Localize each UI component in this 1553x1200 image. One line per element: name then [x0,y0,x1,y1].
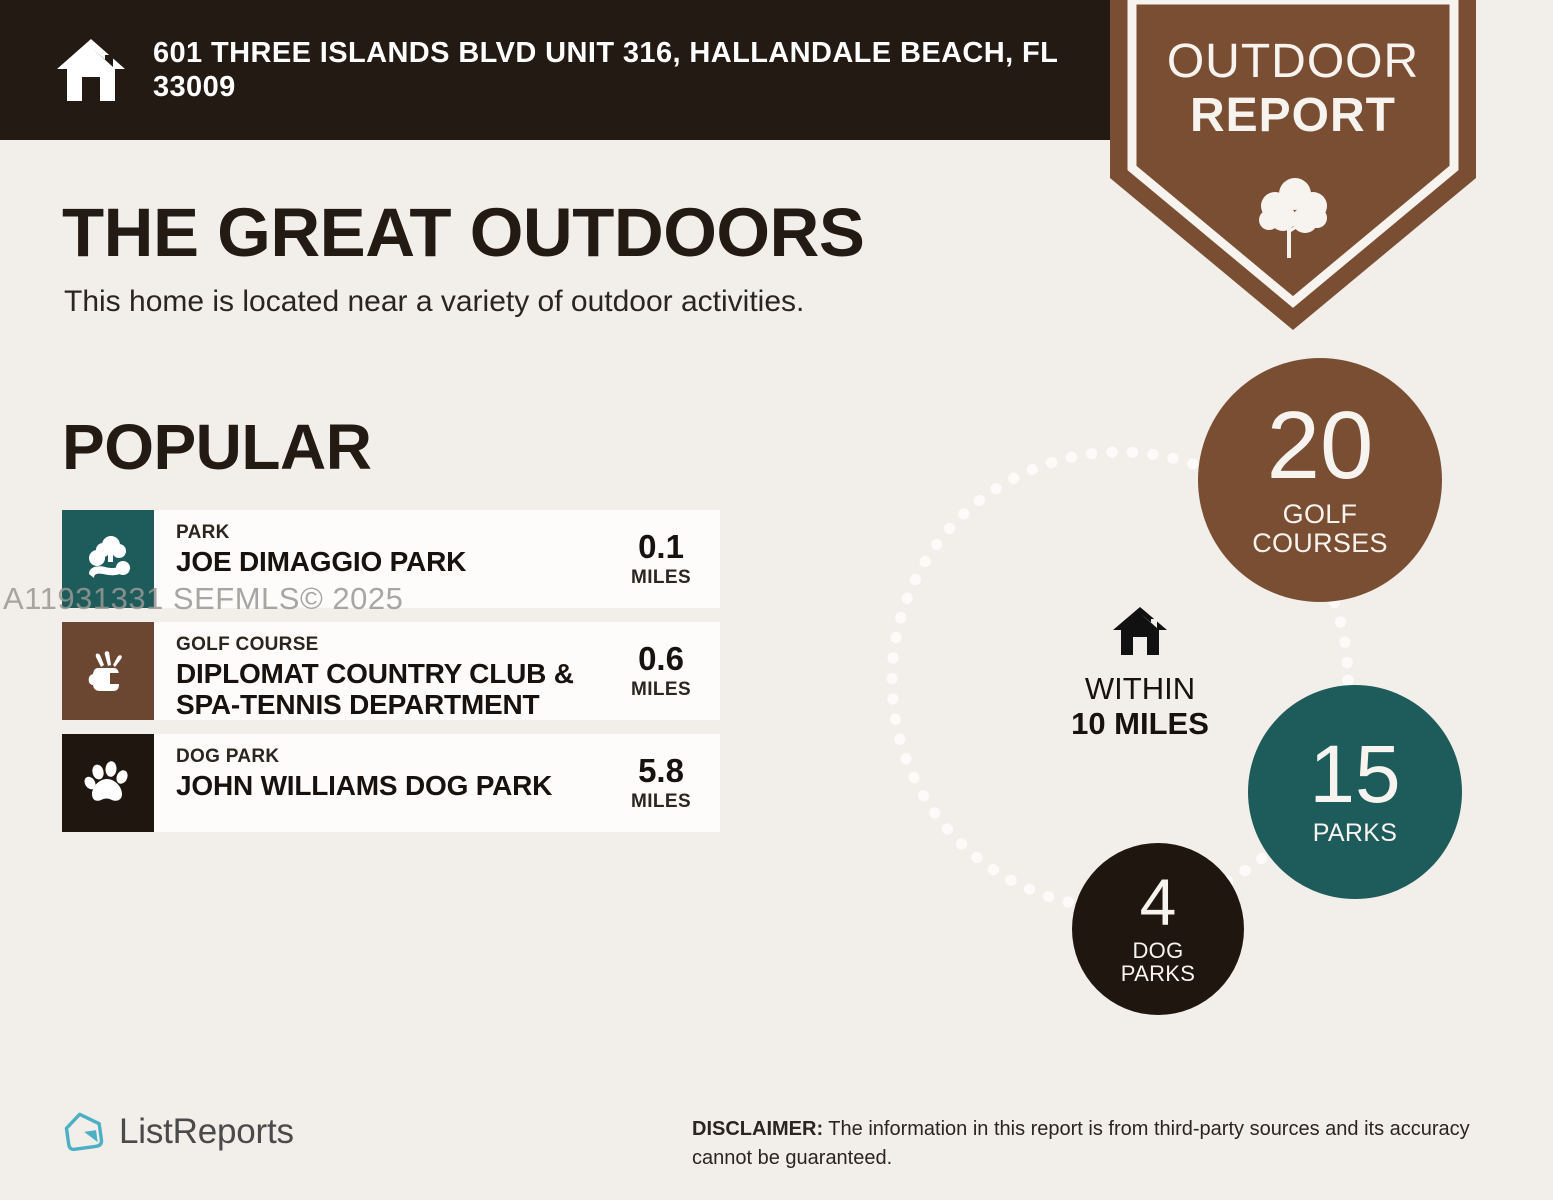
disclaimer: DISCLAIMER: The information in this repo… [692,1115,1492,1173]
poi-body: GOLF COURSE DIPLOMAT COUNTRY CLUB & SPA-… [154,622,616,720]
poi-name: DIPLOMAT COUNTRY CLUB & SPA-TENNIS DEPAR… [176,658,616,720]
stat-label-line1: GOLF [1252,500,1388,529]
stat-label-line1: PARKS [1313,820,1397,847]
poi-icon-tile [62,622,154,720]
badge-text: OUTDOOR REPORT [1110,38,1476,140]
poi-icon-tile [62,734,154,832]
outdoor-report-badge: OUTDOOR REPORT [1110,0,1476,330]
listreports-house-icon [62,1110,106,1154]
park-trees-icon [83,534,133,584]
home-icon [1111,605,1169,657]
list-item[interactable]: GOLF COURSE DIPLOMAT COUNTRY CLUB & SPA-… [62,622,720,720]
list-item[interactable]: DOG PARK JOHN WILLIAMS DOG PARK 5.8 MILE… [62,734,720,832]
stat-circle-parks[interactable]: 15 PARKS [1248,685,1462,899]
header-bar: 601 THREE ISLANDS BLVD UNIT 316, HALLAND… [0,0,1110,140]
within-10-miles-infographic: WITHIN 10 MILES 20 GOLF COURSES 15 PARKS… [820,355,1520,1045]
stat-value: 15 [1309,737,1400,812]
listreports-logo[interactable]: ListReports [62,1110,294,1154]
home-icon [55,37,127,103]
center-within-label: WITHIN [1050,673,1230,706]
poi-category: DOG PARK [176,747,616,768]
poi-name: JOE DIMAGGIO PARK [176,546,616,577]
center-miles-label: 10 MILES [1050,706,1230,742]
page-subtitle: This home is located near a variety of o… [64,285,804,319]
popular-list: PARK JOE DIMAGGIO PARK 0.1 MILES GOLF CO… [62,510,720,846]
poi-distance-unit: MILES [631,567,691,589]
poi-body: PARK JOE DIMAGGIO PARK [154,510,616,608]
poi-icon-tile [62,510,154,608]
poi-distance-value: 0.1 [638,530,684,563]
poi-body: DOG PARK JOHN WILLIAMS DOG PARK [154,734,616,832]
stat-label: PARKS [1313,820,1397,847]
poi-distance: 5.8 MILES [616,734,720,832]
stat-label: GOLF COURSES [1252,500,1388,558]
stat-label-line2: PARKS [1121,962,1195,986]
stat-circle-golf-courses[interactable]: 20 GOLF COURSES [1198,358,1442,602]
poi-name: JOHN WILLIAMS DOG PARK [176,770,616,801]
golf-bag-icon [83,646,133,696]
stat-value: 4 [1140,872,1177,933]
stat-value: 20 [1267,402,1374,490]
disclaimer-label: DISCLAIMER: [692,1118,823,1140]
poi-category: PARK [176,523,616,544]
page-title: THE GREAT OUTDOORS [62,193,864,272]
badge-line-outdoor: OUTDOOR [1110,38,1476,86]
poi-distance-unit: MILES [631,791,691,813]
poi-distance: 0.6 MILES [616,622,720,720]
poi-distance-value: 0.6 [638,642,684,675]
stat-circle-dog-parks[interactable]: 4 DOG PARKS [1072,843,1244,1015]
property-address: 601 THREE ISLANDS BLVD UNIT 316, HALLAND… [153,36,1093,104]
badge-line-report: REPORT [1110,92,1476,140]
stat-label-line2: COURSES [1252,529,1388,558]
center-cluster: WITHIN 10 MILES [1050,605,1230,741]
poi-distance-unit: MILES [631,679,691,701]
list-item[interactable]: PARK JOE DIMAGGIO PARK 0.1 MILES [62,510,720,608]
poi-category: GOLF COURSE [176,635,616,656]
popular-heading: POPULAR [62,410,371,484]
paw-print-icon [83,758,133,808]
stat-label: DOG PARKS [1121,939,1195,987]
poi-distance: 0.1 MILES [616,510,720,608]
listreports-logo-text: ListReports [119,1112,294,1152]
stat-label-line1: DOG [1121,939,1195,963]
poi-distance-value: 5.8 [638,754,684,787]
